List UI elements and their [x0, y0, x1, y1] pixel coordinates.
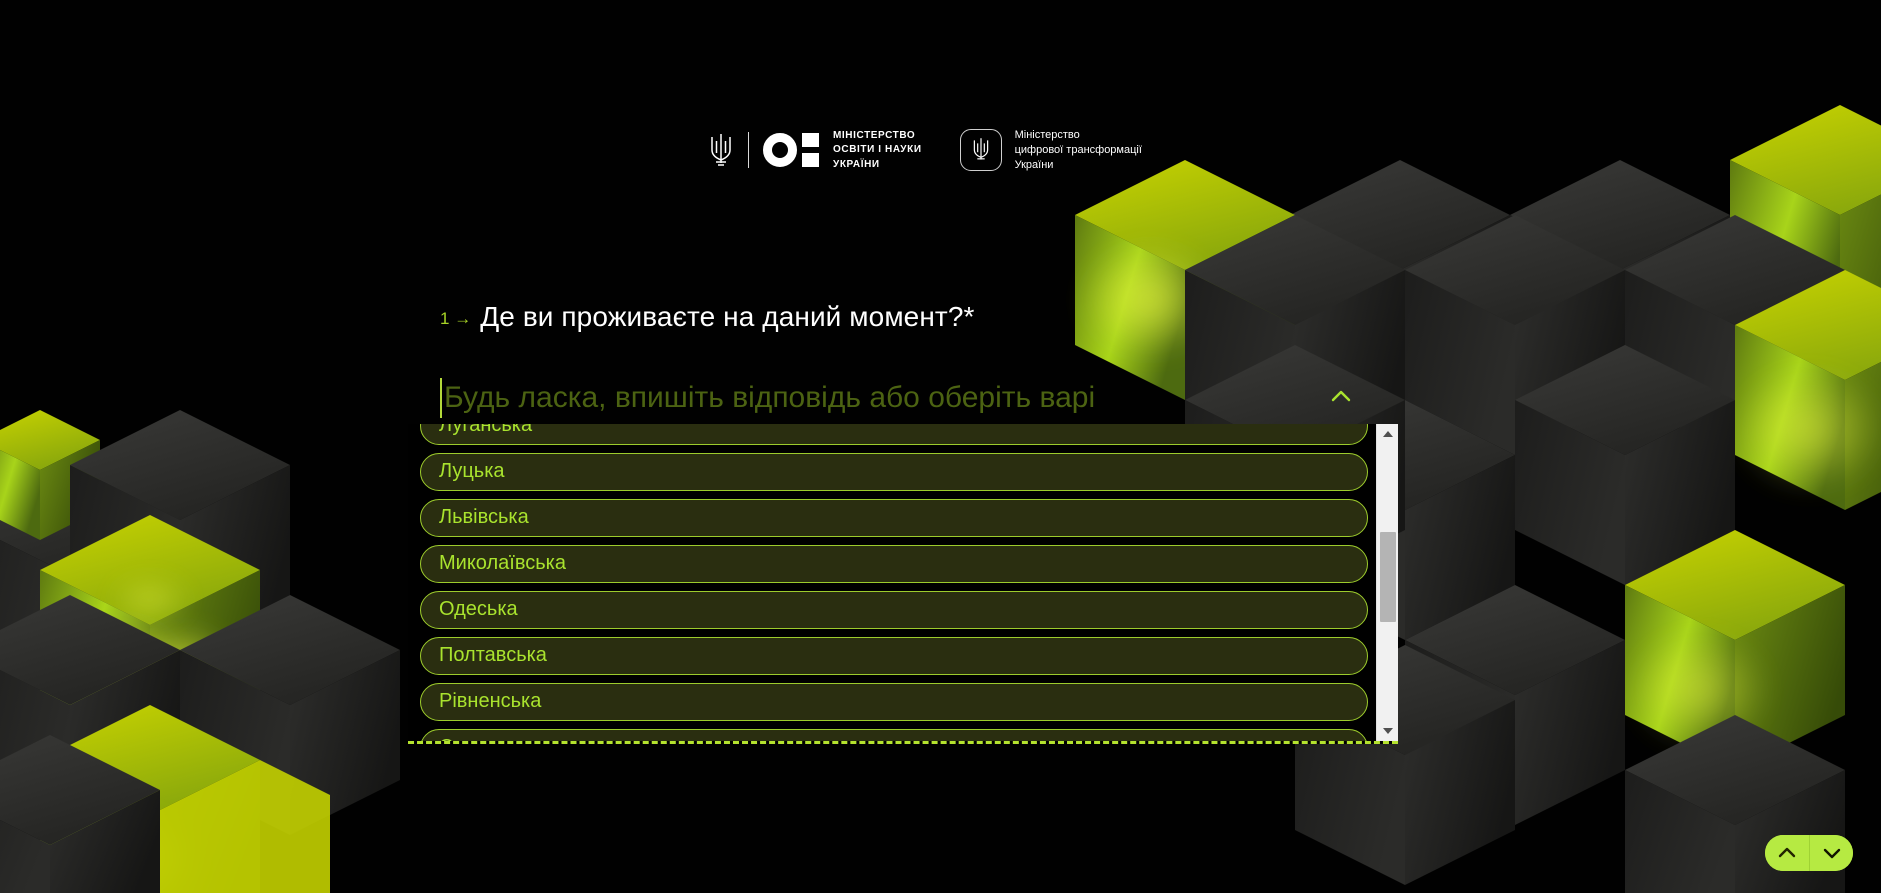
tryzub-icon — [708, 131, 734, 169]
mon-line-3: УКРАЇНИ — [833, 158, 922, 172]
previous-question-button[interactable] — [1765, 835, 1809, 871]
next-question-button[interactable] — [1809, 835, 1853, 871]
dropdown-option[interactable]: Сумська — [420, 729, 1368, 741]
question-header: 1 → Де ви проживаєте на даний момент?* — [440, 300, 1370, 334]
diia-line-3: України — [1015, 158, 1142, 173]
header-logos: МІНІСТЕРСТВО ОСВІТИ І НАУКИ УКРАЇНИ — [708, 128, 1142, 173]
question-block: 1 → Де ви проживаєте на даний момент?* Б… — [440, 300, 1370, 422]
om-bars — [802, 133, 819, 167]
logo-diia-text: Міністерство цифрової трансформації Укра… — [1015, 128, 1142, 173]
cube-cluster-left — [0, 410, 400, 893]
diia-line-1: Міністерство — [1015, 128, 1142, 143]
dropdown-option[interactable]: Львівська — [420, 499, 1368, 537]
page-root: МІНІСТЕРСТВО ОСВІТИ І НАУКИ УКРАЇНИ — [0, 0, 1881, 893]
chevron-up-icon[interactable] — [1328, 383, 1354, 409]
question-text: Де ви проживаєте на даний момент?* — [480, 300, 974, 334]
chevron-up-icon — [1776, 842, 1798, 864]
logo-ministry-of-education: МІНІСТЕРСТВО ОСВІТИ І НАУКИ УКРАЇНИ — [708, 129, 922, 172]
dropdown-option[interactable]: Полтавська — [420, 637, 1368, 675]
dropdown-option-list[interactable]: Луганська Луцька Львівська Миколаївська … — [408, 424, 1376, 741]
dropdown-option[interactable]: Луганська — [420, 424, 1368, 445]
scroll-up-arrow-icon[interactable] — [1377, 424, 1398, 444]
combobox-dropdown[interactable]: Луганська Луцька Львівська Миколаївська … — [408, 424, 1398, 744]
dropdown-option[interactable]: Одеська — [420, 591, 1368, 629]
logo-ministry-of-education-text: МІНІСТЕРСТВО ОСВІТИ І НАУКИ УКРАЇНИ — [833, 129, 922, 172]
logo-divider — [748, 132, 749, 168]
combobox-field[interactable]: Будь ласка, впишіть відповідь або оберіт… — [440, 374, 1360, 422]
dropdown-option[interactable]: Луцька — [420, 453, 1368, 491]
chevron-down-icon — [1821, 842, 1843, 864]
scroll-down-arrow-icon[interactable] — [1377, 721, 1398, 741]
region-combobox[interactable]: Будь ласка, впишіть відповідь або оберіт… — [440, 374, 1360, 422]
dropdown-scrollbar[interactable] — [1376, 424, 1398, 741]
question-navigation — [1765, 835, 1853, 871]
tryzub-small-icon — [971, 136, 991, 164]
mon-line-2: ОСВІТИ І НАУКИ — [833, 143, 922, 157]
diia-line-2: цифрової трансформації — [1015, 143, 1142, 158]
om-ring — [763, 133, 797, 167]
dropdown-option[interactable]: Рівненська — [420, 683, 1368, 721]
dropdown-option[interactable]: Миколаївська — [420, 545, 1368, 583]
text-caret — [440, 378, 442, 418]
logo-ministry-of-digital-transformation: Міністерство цифрової трансформації Укра… — [960, 128, 1142, 173]
tryzub-badge-icon — [960, 129, 1002, 171]
scroll-thumb[interactable] — [1380, 532, 1396, 622]
dropdown-option-inner: Луганська Луцька Львівська Миколаївська … — [408, 424, 1376, 741]
combobox-placeholder: Будь ласка, впишіть відповідь або оберіт… — [440, 383, 1315, 413]
mon-line-1: МІНІСТЕРСТВО — [833, 129, 922, 143]
om-logo-icon — [763, 133, 819, 167]
question-number: 1 → — [440, 310, 471, 327]
